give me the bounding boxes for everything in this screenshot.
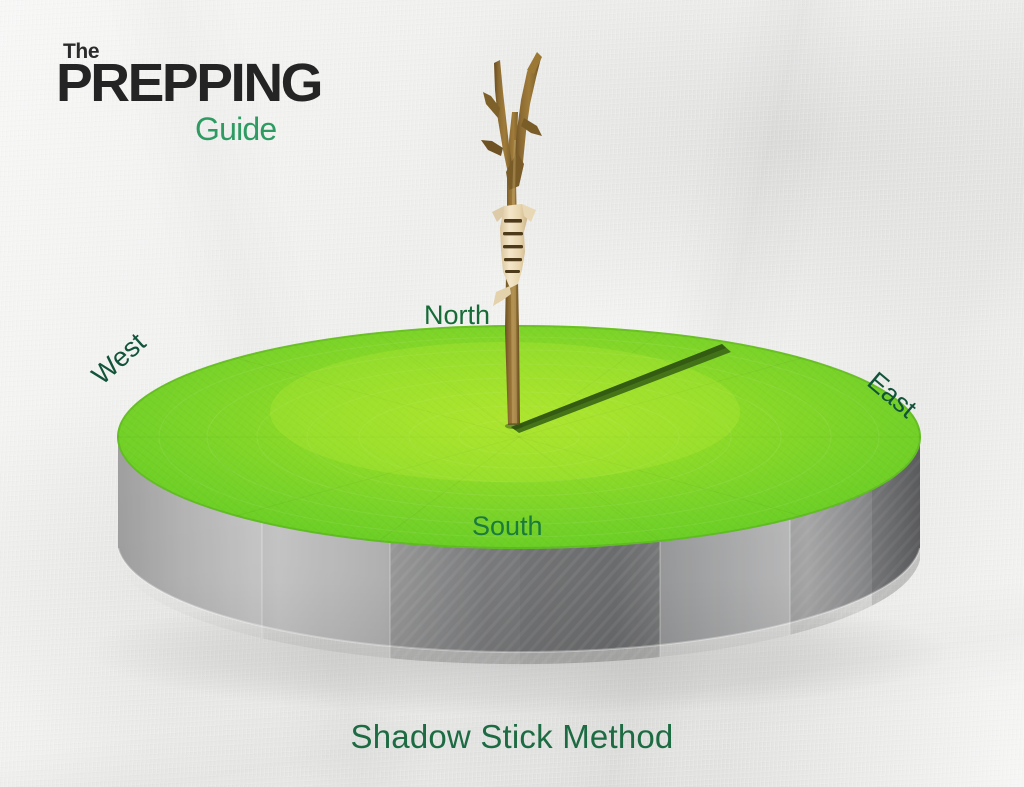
illustration-canvas: The PREPPING Guide <box>0 0 1024 787</box>
stick-base-shade <box>505 423 523 429</box>
compass-label-south: South <box>472 511 543 542</box>
diagram-title: Shadow Stick Method <box>0 718 1024 756</box>
stick-fork-left <box>494 60 513 178</box>
compass-label-north: North <box>424 300 490 331</box>
stick-barb-left-2 <box>481 140 503 156</box>
